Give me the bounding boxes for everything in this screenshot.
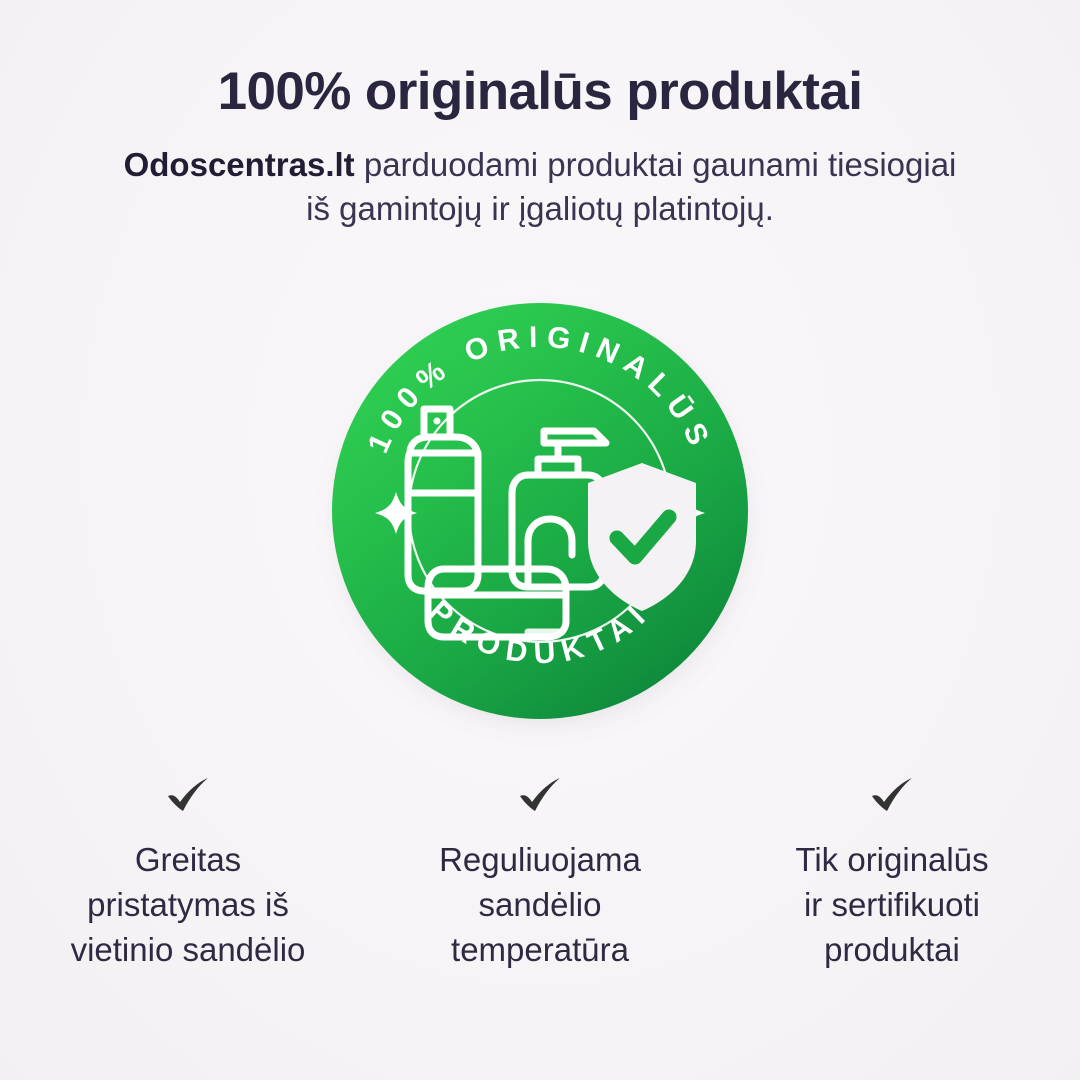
feature-item-1: Reguliuojama sandėlio temperatūra [364,768,716,973]
badge-graphic: 100% ORIGINALŪS PRODUKTAI [332,303,748,719]
feature-label-1: Reguliuojama sandėlio temperatūra [376,838,704,973]
check-icon-2 [728,768,1056,824]
brand-name: Odoscentras.lt [124,146,355,183]
originality-badge: 100% ORIGINALŪS PRODUKTAI [332,303,748,719]
header: 100% originalūs produktai Odoscentras.lt… [0,62,1080,230]
feature-item-0: Greitas pristatymas iš vietinio sandėlio [12,768,364,973]
check-icon-0 [24,768,352,824]
subtitle-text: parduodami produktai gaunami tiesiogiai … [306,146,956,227]
feature-label-2: Tik originalūs ir sertifikuoti produktai [728,838,1056,973]
check-icon-1 [376,768,704,824]
subtitle: Odoscentras.lt parduodami produktai gaun… [0,143,1080,230]
promo-banner: 100% originalūs produktai Odoscentras.lt… [0,0,1080,1080]
page-title: 100% originalūs produktai [0,62,1080,121]
feature-label-0: Greitas pristatymas iš vietinio sandėlio [24,838,352,973]
feature-item-2: Tik originalūs ir sertifikuoti produktai [716,768,1068,973]
features-row: Greitas pristatymas iš vietinio sandėlio… [0,768,1080,973]
